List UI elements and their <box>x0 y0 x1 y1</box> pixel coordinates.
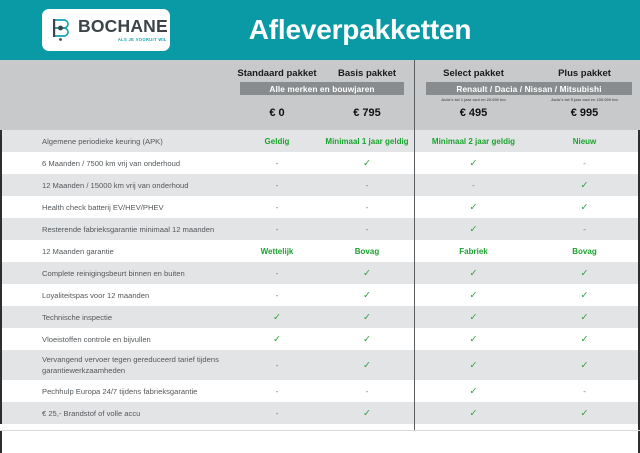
row-cell: ✓ <box>529 408 640 419</box>
row-cell: - <box>322 225 412 234</box>
dash-icon: - <box>276 225 279 234</box>
package-price-basis: € 795 <box>322 107 412 119</box>
row-cell: ✓ <box>418 386 529 397</box>
row-cell: ✓ <box>418 290 529 301</box>
row-cell: ✓ <box>529 202 640 213</box>
group-divider <box>414 60 415 445</box>
table-row: € 25,- Brandstof of volle accu-✓✓✓ <box>0 402 640 424</box>
row-left-edge <box>0 240 2 262</box>
check-icon: ✓ <box>581 408 589 419</box>
check-icon: ✓ <box>470 202 478 213</box>
row-feature-label: Complete reinigingsbeurt binnen en buite… <box>42 268 234 279</box>
row-cell: - <box>418 181 529 190</box>
table-row: Vloeistoffen controle en bijvullen✓✓✓✓ <box>0 328 640 350</box>
check-icon: ✓ <box>470 334 478 345</box>
check-icon: ✓ <box>363 290 371 301</box>
row-cell: ✓ <box>529 334 640 345</box>
cell-value: Wettelijk <box>261 247 294 256</box>
row-cell: ✓ <box>529 290 640 301</box>
row-feature-label: Loyaliteitspas voor 12 maanden <box>42 290 234 301</box>
package-sub-select: Auto's tot 1 jaar oud en 20.000 km <box>418 97 529 102</box>
row-feature-label: Resterende fabrieksgarantie minimaal 12 … <box>42 224 234 235</box>
row-cell: ✓ <box>529 360 640 371</box>
bochane-logo-icon <box>51 17 75 43</box>
row-cell: Bovag <box>529 247 640 256</box>
row-cell: - <box>232 225 322 234</box>
package-names-right: Select pakket Plus pakket <box>418 68 640 79</box>
table-row: 6 Maanden / 7500 km vrij van onderhoud-✓… <box>0 152 640 174</box>
check-icon: ✓ <box>581 180 589 191</box>
table-row: Algemene periodieke keuring (APK)GeldigM… <box>0 130 640 152</box>
row-cell: ✓ <box>232 312 322 323</box>
check-icon: ✓ <box>470 386 478 397</box>
row-cell: Minimaal 1 jaar geldig <box>322 137 412 146</box>
check-icon: ✓ <box>581 268 589 279</box>
package-name-standaard: Standaard pakket <box>232 68 322 79</box>
row-cell: ✓ <box>529 268 640 279</box>
row-cell: ✓ <box>418 408 529 419</box>
dash-icon: - <box>366 203 369 212</box>
row-cell: - <box>232 361 322 370</box>
cell-value: Geldig <box>265 137 290 146</box>
dash-icon: - <box>276 203 279 212</box>
dash-icon: - <box>276 361 279 370</box>
dash-icon: - <box>276 409 279 418</box>
row-cell: Geldig <box>232 137 322 146</box>
dash-icon: - <box>276 159 279 168</box>
row-cell: Minimaal 2 jaar geldig <box>418 137 529 146</box>
package-prices-left: € 0 € 795 <box>232 107 412 119</box>
dash-icon: - <box>583 225 586 234</box>
cell-value: Fabriek <box>459 247 487 256</box>
table-row: Loyaliteitspas voor 12 maanden-✓✓✓ <box>0 284 640 306</box>
footer-left-edge <box>0 431 2 453</box>
row-feature-label: 12 Maanden garantie <box>42 246 234 257</box>
row-cell: ✓ <box>529 180 640 191</box>
row-cell: Nieuw <box>529 137 640 146</box>
row-left-edge <box>0 262 2 284</box>
check-icon: ✓ <box>363 158 371 169</box>
row-cell: ✓ <box>418 312 529 323</box>
check-icon: ✓ <box>470 408 478 419</box>
check-icon: ✓ <box>363 360 371 371</box>
dash-icon: - <box>276 291 279 300</box>
check-icon: ✓ <box>470 224 478 235</box>
row-left-edge <box>0 402 2 424</box>
row-left-edge <box>0 196 2 218</box>
dash-icon: - <box>583 387 586 396</box>
row-left-edge <box>0 350 2 380</box>
row-cell: - <box>232 291 322 300</box>
check-icon: ✓ <box>581 290 589 301</box>
package-sub-plus: Auto's tot 5 jaar oud en 100.000 km <box>529 97 640 102</box>
table-row: Vervangend vervoer tegen gereduceerd tar… <box>0 350 640 380</box>
row-cell: - <box>529 159 640 168</box>
dash-icon: - <box>366 225 369 234</box>
row-cell: ✓ <box>418 158 529 169</box>
row-feature-label: 6 Maanden / 7500 km vrij van onderhoud <box>42 158 234 169</box>
row-cell: ✓ <box>418 360 529 371</box>
table-row: Complete reinigingsbeurt binnen en buite… <box>0 262 640 284</box>
group-badge-all-brands: Alle merken en bouwjaren <box>240 82 404 95</box>
cell-value: Bovag <box>355 247 379 256</box>
row-cell: ✓ <box>418 334 529 345</box>
row-cell: ✓ <box>232 334 322 345</box>
row-cell: - <box>232 269 322 278</box>
package-prices-right: € 495 € 995 <box>418 107 640 119</box>
row-cell: - <box>232 409 322 418</box>
row-feature-label: Health check batterij EV/HEV/PHEV <box>42 202 234 213</box>
table-footer-frame <box>0 430 640 453</box>
cell-value: Bovag <box>572 247 596 256</box>
cell-value: Minimaal 1 jaar geldig <box>325 137 408 146</box>
row-cell: ✓ <box>322 408 412 419</box>
check-icon: ✓ <box>470 360 478 371</box>
row-left-edge <box>0 130 2 152</box>
check-icon: ✓ <box>581 334 589 345</box>
row-left-edge <box>0 218 2 240</box>
row-cell: ✓ <box>322 334 412 345</box>
row-cell: ✓ <box>322 312 412 323</box>
row-cell: - <box>322 181 412 190</box>
row-left-edge <box>0 328 2 350</box>
row-cell: ✓ <box>418 224 529 235</box>
check-icon: ✓ <box>470 268 478 279</box>
check-icon: ✓ <box>470 290 478 301</box>
table-row: 12 Maanden garantieWettelijkBovagFabriek… <box>0 240 640 262</box>
bochane-logo[interactable]: BOCHANE ALS JE VOORUIT WIL <box>42 9 170 51</box>
dash-icon: - <box>366 387 369 396</box>
row-feature-label: Vervangend vervoer tegen gereduceerd tar… <box>42 354 234 376</box>
row-feature-label: 12 Maanden / 15000 km vrij van onderhoud <box>42 180 234 191</box>
row-cell: - <box>529 387 640 396</box>
package-price-plus: € 995 <box>529 107 640 119</box>
check-icon: ✓ <box>470 158 478 169</box>
row-left-edge <box>0 306 2 328</box>
check-icon: ✓ <box>363 334 371 345</box>
table-row: Pechhulp Europa 24/7 tijdens fabrieksgar… <box>0 380 640 402</box>
table-row: Health check batterij EV/HEV/PHEV--✓✓ <box>0 196 640 218</box>
package-name-basis: Basis pakket <box>322 68 412 79</box>
row-cell: ✓ <box>418 268 529 279</box>
check-icon: ✓ <box>581 360 589 371</box>
table-row: 12 Maanden / 15000 km vrij van onderhoud… <box>0 174 640 196</box>
row-cell: Bovag <box>322 247 412 256</box>
dash-icon: - <box>472 181 475 190</box>
check-icon: ✓ <box>363 408 371 419</box>
row-left-edge <box>0 174 2 196</box>
row-cell: Wettelijk <box>232 247 322 256</box>
row-cell: - <box>232 159 322 168</box>
row-cell: - <box>529 225 640 234</box>
package-group-renault: Select pakket Plus pakket Renault / Daci… <box>418 60 640 130</box>
row-cell: - <box>322 387 412 396</box>
logo-wordmark: BOCHANE <box>78 18 168 36</box>
package-price-standaard: € 0 <box>232 107 322 119</box>
table-row: Resterende fabrieksgarantie minimaal 12 … <box>0 218 640 240</box>
row-cell: Fabriek <box>418 247 529 256</box>
dash-icon: - <box>366 181 369 190</box>
row-cell: ✓ <box>322 290 412 301</box>
check-icon: ✓ <box>581 202 589 213</box>
package-names-left: Standaard pakket Basis pakket <box>232 68 412 79</box>
row-cell: - <box>232 387 322 396</box>
package-group-all-brands: Standaard pakket Basis pakket Alle merke… <box>232 60 412 130</box>
group-badge-renault: Renault / Dacia / Nissan / Mitsubishi <box>426 82 632 95</box>
row-cell: ✓ <box>322 268 412 279</box>
page-header: BOCHANE ALS JE VOORUIT WIL Afleverpakket… <box>0 0 640 60</box>
cell-value: Nieuw <box>573 137 597 146</box>
row-feature-label: Pechhulp Europa 24/7 tijdens fabrieksgar… <box>42 386 234 397</box>
row-cell: - <box>232 203 322 212</box>
row-left-edge <box>0 152 2 174</box>
dash-icon: - <box>583 159 586 168</box>
check-icon: ✓ <box>363 312 371 323</box>
package-subs-right: Auto's tot 1 jaar oud en 20.000 km Auto'… <box>418 97 640 102</box>
afleverpakketten-page: BOCHANE ALS JE VOORUIT WIL Afleverpakket… <box>0 0 640 453</box>
row-left-edge <box>0 380 2 402</box>
check-icon: ✓ <box>273 334 281 345</box>
check-icon: ✓ <box>363 268 371 279</box>
row-cell: - <box>232 181 322 190</box>
check-icon: ✓ <box>273 312 281 323</box>
check-icon: ✓ <box>581 312 589 323</box>
logo-tagline: ALS JE VOORUIT WIL <box>118 38 167 42</box>
row-feature-label: Vloeistoffen controle en bijvullen <box>42 334 234 345</box>
table-row: Technische inspectie✓✓✓✓ <box>0 306 640 328</box>
feature-comparison-table: Algemene periodieke keuring (APK)GeldigM… <box>0 130 640 424</box>
package-name-plus: Plus pakket <box>529 68 640 79</box>
row-cell: ✓ <box>529 312 640 323</box>
dash-icon: - <box>276 269 279 278</box>
row-left-edge <box>0 284 2 306</box>
cell-value: Minimaal 2 jaar geldig <box>432 137 515 146</box>
row-feature-label: Algemene periodieke keuring (APK) <box>42 136 234 147</box>
package-price-select: € 495 <box>418 107 529 119</box>
package-name-select: Select pakket <box>418 68 529 79</box>
row-cell: ✓ <box>322 158 412 169</box>
row-cell: ✓ <box>418 202 529 213</box>
row-feature-label: € 25,- Brandstof of volle accu <box>42 408 234 419</box>
row-cell: ✓ <box>322 360 412 371</box>
dash-icon: - <box>276 387 279 396</box>
check-icon: ✓ <box>470 312 478 323</box>
row-feature-label: Technische inspectie <box>42 312 234 323</box>
column-header-band: Standaard pakket Basis pakket Alle merke… <box>0 60 640 130</box>
row-cell: - <box>322 203 412 212</box>
dash-icon: - <box>276 181 279 190</box>
